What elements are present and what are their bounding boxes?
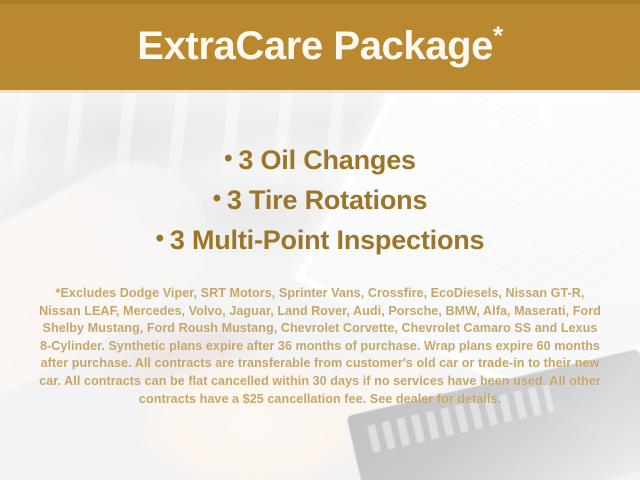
disclaimer-text: *Excludes Dodge Viper, SRT Motors, Sprin… <box>36 285 604 408</box>
list-item: •3 Oil Changes <box>0 141 640 181</box>
list-item-label: 3 Oil Changes <box>238 145 415 175</box>
page-title-text: ExtraCare Package <box>137 24 493 68</box>
list-item: •3 Tire Rotations <box>0 181 640 221</box>
list-item-label: 3 Multi-Point Inspections <box>170 225 485 255</box>
content-area: •3 Oil Changes •3 Tire Rotations •3 Mult… <box>0 93 640 480</box>
page-title: ExtraCare Package* <box>137 26 502 66</box>
benefits-list: •3 Oil Changes •3 Tire Rotations •3 Mult… <box>0 141 640 261</box>
list-item: •3 Multi-Point Inspections <box>0 221 640 261</box>
bullet-icon: • <box>156 225 164 252</box>
bullet-icon: • <box>224 145 232 172</box>
list-item-label: 3 Tire Rotations <box>227 185 427 215</box>
bullet-icon: • <box>213 185 221 212</box>
title-asterisk: * <box>493 21 503 51</box>
extracare-package-ad: ExtraCare Package* •3 Oil Changes •3 Tir… <box>0 0 640 480</box>
header-banner: ExtraCare Package* <box>0 0 640 93</box>
